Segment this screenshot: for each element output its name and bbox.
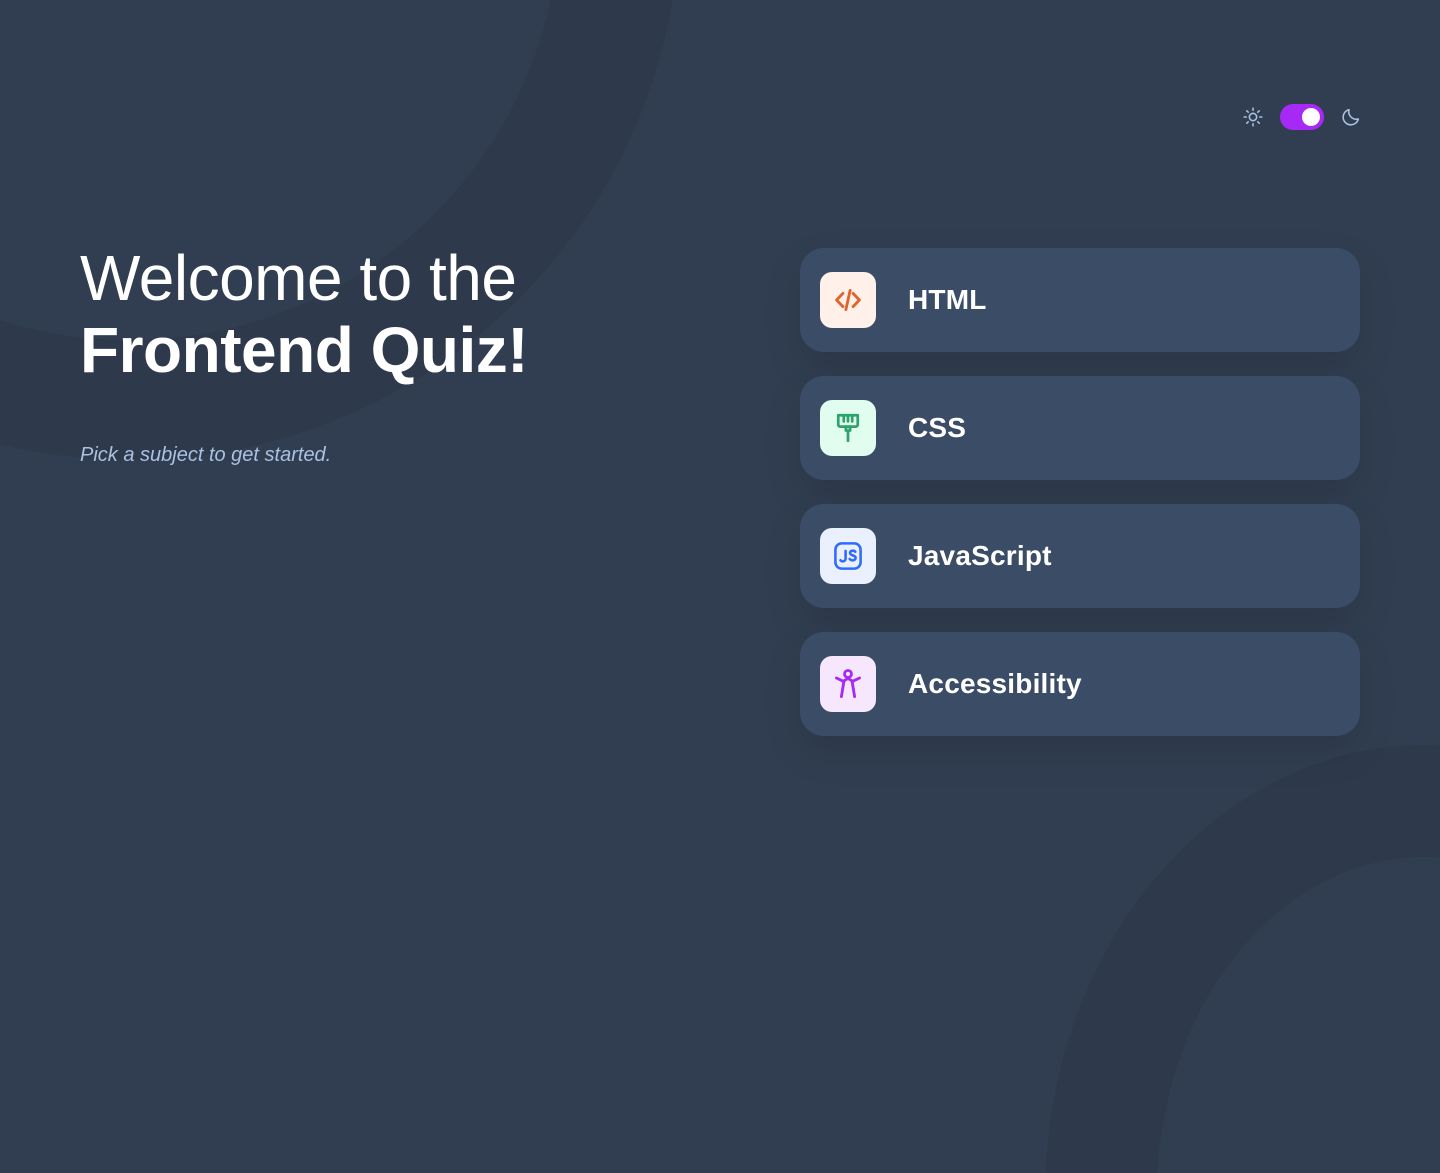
moon-icon: [1340, 106, 1362, 128]
page-subtitle: Pick a subject to get started.: [80, 444, 640, 467]
page-root: Welcome to the Frontend Quiz! Pick a sub…: [0, 0, 1440, 1173]
subject-button-accessibility[interactable]: Accessibility: [800, 632, 1360, 736]
intro-block: Welcome to the Frontend Quiz! Pick a sub…: [80, 246, 640, 467]
theme-switch-knob: [1302, 108, 1320, 126]
subject-label: Accessibility: [908, 668, 1082, 700]
page-title-line-1: Welcome to the: [80, 246, 640, 310]
theme-switch[interactable]: [1280, 104, 1324, 130]
subject-button-css[interactable]: CSS: [800, 376, 1360, 480]
subject-label: HTML: [908, 284, 987, 316]
subject-button-javascript[interactable]: JavaScript: [800, 504, 1360, 608]
sun-icon: [1242, 106, 1264, 128]
paintbrush-icon: [820, 400, 876, 456]
page-title-line-2: Frontend Quiz!: [80, 318, 640, 382]
js-badge-icon: [820, 528, 876, 584]
theme-toggle[interactable]: [1242, 104, 1362, 130]
accessibility-person-icon: [820, 656, 876, 712]
subject-label: JavaScript: [908, 540, 1052, 572]
page-title: Welcome to the Frontend Quiz!: [80, 246, 640, 382]
subject-list: HTML CSS JavaScript: [800, 248, 1360, 736]
html-code-icon: [820, 272, 876, 328]
subject-label: CSS: [908, 412, 966, 444]
subject-button-html[interactable]: HTML: [800, 248, 1360, 352]
